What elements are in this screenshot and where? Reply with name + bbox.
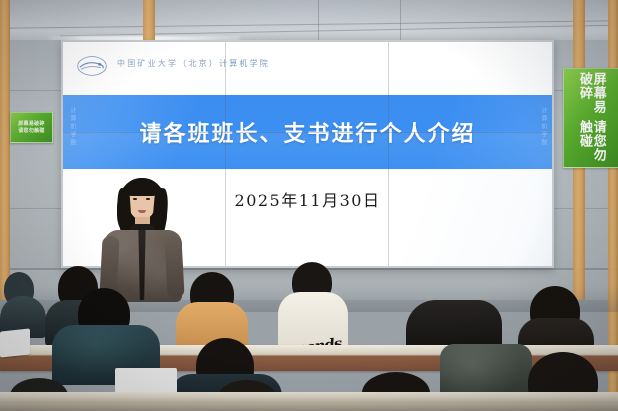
warning-sign-right-line2: 屏幕易破碎 (578, 72, 605, 117)
warning-sign-left-line2: 请您勿触碰 (18, 128, 45, 134)
ceiling-seam-line (0, 20, 618, 29)
video-wall-seam (388, 42, 389, 266)
presenter-hairline (126, 180, 158, 196)
band-side-text-left: 计算机学院 (69, 107, 75, 147)
video-wall-seam (225, 42, 226, 266)
band-side-text-right: 计算机学院 (540, 107, 546, 147)
warning-sign-right: 屏幕易破碎 请您勿触碰 (563, 68, 618, 168)
ceiling (0, 0, 618, 42)
presenter (100, 172, 184, 300)
lecture-hall-photo: 屏幕易破碎 请您勿触碰 屏幕易破碎 请您勿触碰 中国矿业大学（北京）计算机学院 … (0, 0, 618, 411)
warning-sign-left-line1: 屏幕易破碎 (18, 121, 45, 127)
organization-name: 中国矿业大学（北京）计算机学院 (117, 58, 270, 69)
front-desk-edge (0, 403, 618, 411)
front-desk-rail (0, 392, 618, 403)
presenter-eye-right (146, 198, 150, 200)
warning-sign-left: 屏幕易破碎 请您勿触碰 (10, 112, 53, 143)
laptop-screen (0, 328, 30, 357)
slide-header: 中国矿业大学（北京）计算机学院 (63, 42, 552, 95)
ceiling-panel-seam (400, 0, 401, 42)
wall-pillar-far-left (0, 0, 10, 300)
university-emblem-icon (75, 55, 109, 77)
ceiling-panel-seam (318, 0, 319, 42)
video-wall-seam (63, 132, 552, 133)
warning-sign-right-line1: 请您勿触碰 (578, 120, 605, 165)
presenter-eye-left (133, 198, 137, 200)
